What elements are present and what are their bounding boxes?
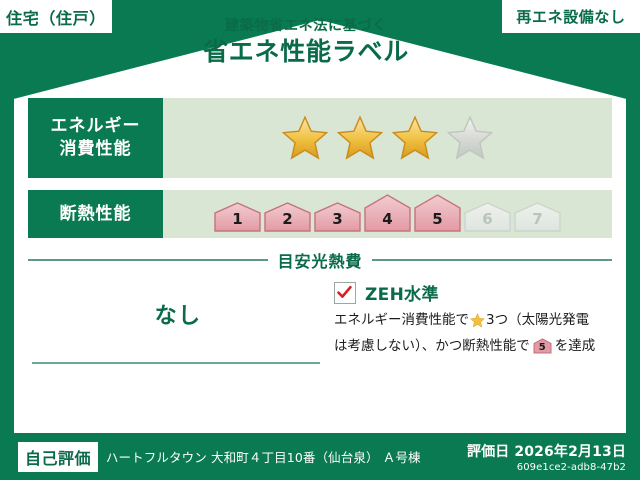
insulation-grade-value: 1 (214, 210, 261, 228)
zeh-desc-2b: を達成 (555, 336, 596, 357)
building-type-tag: 住宅（住戸） (0, 0, 112, 33)
self-evaluation-badge: 自己評価 (18, 442, 98, 472)
insulation-grade-6: 6 (464, 202, 511, 232)
insulation-grade-7: 7 (514, 202, 561, 232)
zeh-description-line-2: は考慮しない）、かつ断熱性能で 5 を達成 (334, 336, 612, 357)
star-filled-icon (337, 115, 383, 161)
zeh-checkbox[interactable] (334, 282, 356, 304)
zeh-standard-box: ZEH水準 エネルギー消費性能で 3つ（太陽光発電 は考慮しない）、かつ断熱性能… (328, 276, 612, 357)
star-filled-icon (392, 115, 438, 161)
utility-cost-left: なし (28, 276, 328, 357)
insulation-grade-value: 3 (314, 210, 361, 228)
insulation-performance-row: 断熱性能 1234567 (28, 190, 612, 238)
inline-grade-badge: 5 (533, 338, 552, 354)
energy-label-line1: エネルギー (50, 115, 140, 138)
utility-cost-body: なし ZEH水準 エネルギー消費性能で (28, 276, 612, 357)
zeh-title: ZEH水準 (365, 280, 439, 305)
insulation-grade-value: 4 (364, 210, 411, 228)
insulation-grade-value: 5 (414, 210, 461, 228)
insulation-grade-value: 7 (514, 210, 561, 228)
evaluation-date: 評価日 2026年2月13日 (467, 441, 626, 461)
evaluation-id: 609e1ce2-adb8-47b2 (467, 462, 626, 473)
utility-cost-heading: 目安光熱費 (28, 250, 612, 270)
building-type-tag-label: 住宅（住戸） (6, 5, 106, 29)
insulation-grade-value: 6 (464, 210, 511, 228)
check-icon (336, 284, 353, 301)
energy-performance-label-key: エネルギー 消費性能 (28, 98, 163, 178)
insulation-grade-2: 2 (264, 202, 311, 232)
footer-meta: 評価日 2026年2月13日 609e1ce2-adb8-47b2 (467, 441, 626, 473)
renewable-energy-tag-label: 再エネ設備なし (516, 6, 625, 27)
energy-performance-label: 住宅（住戸） 再エネ設備なし 建築物省エネ法に基づく 省エネ性能ラベル エネルギ… (0, 0, 640, 480)
insulation-grade-scale: 1234567 (214, 194, 561, 235)
zeh-desc-1b: 3つ（太陽光発電 (486, 310, 589, 331)
insulation-performance-value: 1234567 (163, 190, 612, 238)
property-address: ハートフルタウン 大和町４丁目10番（仙台泉） Ａ号棟 (106, 447, 421, 466)
zeh-header: ZEH水準 (334, 280, 612, 305)
label-content: エネルギー 消費性能 断熱性能 1234567 目安光熱費 なし (28, 98, 612, 428)
insulation-grade-4: 4 (364, 194, 411, 232)
inline-grade-value: 5 (539, 338, 546, 356)
energy-label-line2: 消費性能 (59, 138, 131, 161)
star-filled-icon (282, 115, 328, 161)
energy-performance-row: エネルギー 消費性能 (28, 98, 612, 178)
inline-star-icon (470, 313, 485, 328)
utility-cost-value: なし (28, 276, 328, 330)
insulation-label: 断熱性能 (59, 203, 131, 226)
insulation-grade-5: 5 (414, 194, 461, 232)
utility-cost-heading-label: 目安光熱費 (268, 248, 373, 272)
zeh-desc-2a: は考慮しない）、かつ断熱性能で (334, 336, 530, 357)
insulation-grade-value: 2 (264, 210, 311, 228)
heading-rule-right (372, 259, 612, 261)
energy-performance-value (163, 98, 612, 178)
heading-rule-left (28, 259, 268, 261)
star-empty-icon (447, 115, 493, 161)
insulation-grade-1: 1 (214, 202, 261, 232)
label-footer: 自己評価 ハートフルタウン 大和町４丁目10番（仙台泉） Ａ号棟 評価日 202… (0, 433, 640, 480)
zeh-desc-1a: エネルギー消費性能で (334, 310, 469, 331)
zeh-description-line-1: エネルギー消費性能で 3つ（太陽光発電 (334, 310, 612, 331)
cost-divider (32, 362, 320, 364)
insulation-performance-label-key: 断熱性能 (28, 190, 163, 238)
renewable-energy-tag: 再エネ設備なし (502, 0, 640, 33)
page-title: 省エネ性能ラベル (0, 36, 612, 69)
star-rating (282, 115, 493, 161)
insulation-grade-3: 3 (314, 202, 361, 232)
